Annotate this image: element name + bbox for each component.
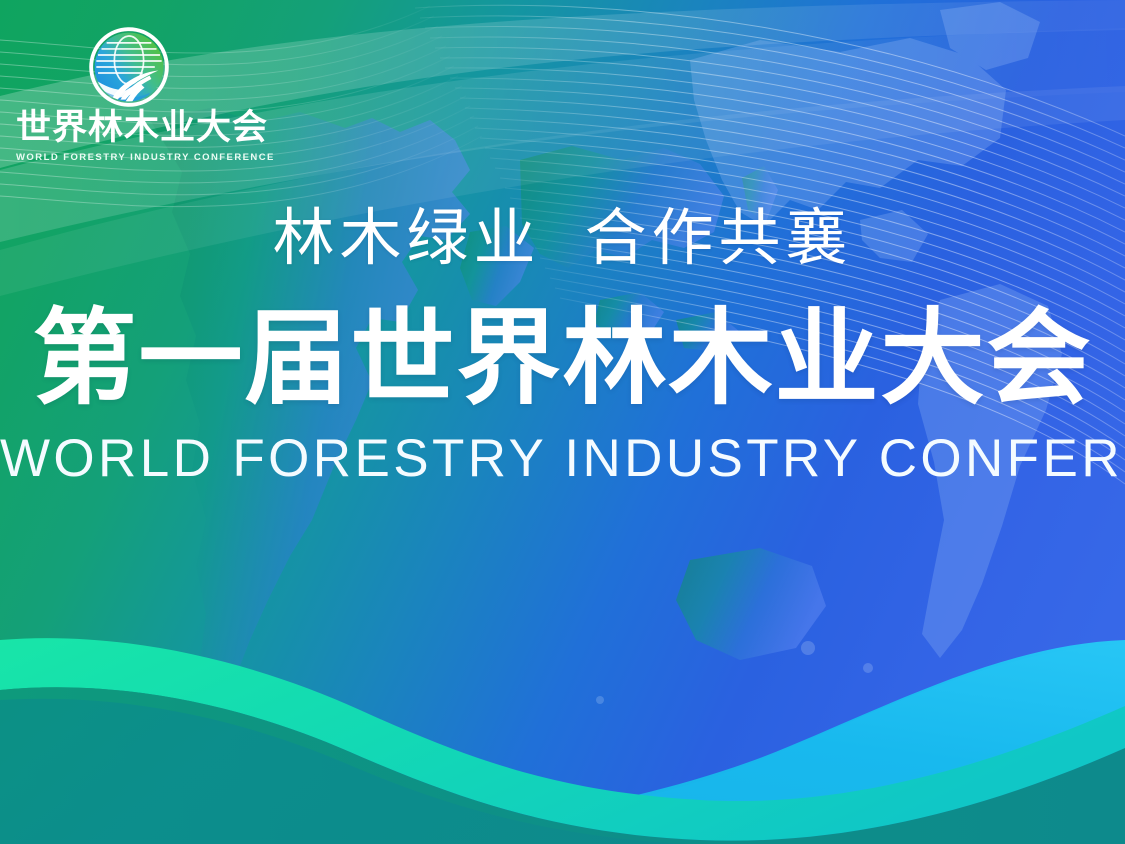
slogan-part-1: 林木绿业 <box>272 204 540 273</box>
logo-name-en: WORLD FORESTRY INDUSTRY CONFERENCE <box>16 153 264 163</box>
slogan-cn: 林木绿业合作共襄 <box>0 205 1125 273</box>
title-en: WORLD FORESTRY INDUSTRY CONFERENCE <box>0 432 1125 485</box>
headline-block: 林木绿业合作共襄 第一届世界林木业大会 WORLD FORESTRY INDUS… <box>0 205 1125 485</box>
conference-poster: 世界林木业大会 WORLD FORESTRY INDUSTRY CONFEREN… <box>0 0 1125 844</box>
slogan-part-2: 合作共襄 <box>585 204 853 273</box>
globe-leaf-logo-icon <box>86 24 172 110</box>
title-cn: 第一届世界林木业大会 <box>0 306 1125 412</box>
logo-name-cn: 世界林木业大会 <box>16 110 264 145</box>
conference-logo: 世界林木业大会 WORLD FORESTRY INDUSTRY CONFEREN… <box>16 22 264 162</box>
